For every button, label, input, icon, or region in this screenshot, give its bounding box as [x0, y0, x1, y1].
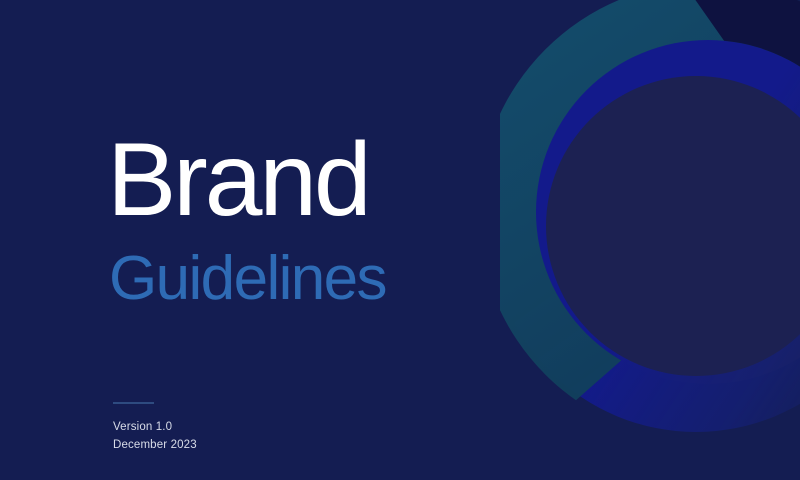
document-meta: Version 1.0 December 2023: [113, 418, 197, 454]
cover-text-block: Brand Guidelines Version 1.0 December 20…: [113, 0, 573, 480]
ring-interior-disc: [536, 40, 800, 384]
dark-navy-crescent: [640, 0, 800, 230]
page-title-main: Brand: [107, 128, 369, 232]
accent-divider: [113, 402, 154, 404]
version-label: Version 1.0: [113, 418, 197, 436]
page-title-subtitle: Guidelines: [109, 248, 386, 310]
brand-guidelines-cover-slide: Brand Guidelines Version 1.0 December 20…: [0, 0, 800, 480]
date-label: December 2023: [113, 436, 197, 454]
